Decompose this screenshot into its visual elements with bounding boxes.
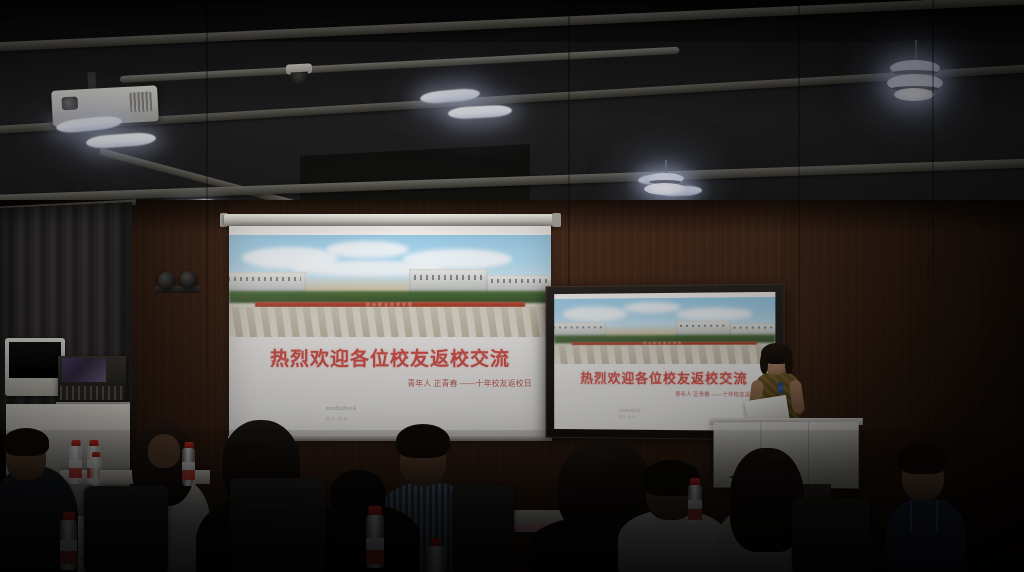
chair-center-left	[230, 478, 326, 572]
av-control-monitor[interactable]	[5, 338, 65, 396]
eyeglasses-icon	[766, 359, 787, 366]
cloud-2	[326, 241, 410, 258]
mixer-fader-strip[interactable]	[60, 386, 124, 400]
slide-campus-photo: 杭州职业技术学院	[229, 235, 551, 338]
ceiling-service-rail	[120, 47, 680, 83]
mixer-preview-screen	[62, 358, 106, 382]
tv-plaza-haze	[554, 345, 775, 364]
slide-date-secondary: 浙 江 · 杭 州	[326, 416, 348, 422]
attendee-standing-right-hair	[898, 444, 948, 474]
water-bottle-8	[688, 478, 702, 522]
bottle-label-5	[366, 538, 384, 564]
ceiling	[0, 0, 1024, 215]
attendee-white-shirt	[618, 466, 728, 572]
bottle-label-8	[688, 500, 702, 520]
pendant-saucer-skirt-1	[894, 88, 934, 101]
presenter	[752, 346, 802, 426]
bottle-cap-4	[63, 512, 75, 520]
bottle-label-4	[60, 540, 77, 564]
chair-right	[792, 498, 870, 572]
attendee-center-checkered-hair	[396, 424, 450, 458]
tv-cloud-2	[623, 302, 680, 314]
tv-slide-date: 2016年9月24日	[619, 408, 641, 413]
microphone-icon	[778, 382, 783, 394]
tv-slide-subtitle: 青年人 正青春 ——十年校友返校日	[675, 390, 762, 398]
bottle-body-9	[90, 457, 102, 486]
bottle-cap-5	[369, 506, 382, 515]
wall-speaker-right-icon	[180, 271, 197, 287]
attendee-left-woman-head	[148, 434, 180, 468]
av-monitor-screen	[9, 342, 61, 378]
slide-subtitle: 青年人 正青春 ——十年校友返校日	[407, 378, 531, 389]
eyeglasses-icon-attendee	[730, 476, 746, 485]
bottle-cap-8	[690, 478, 700, 485]
slide-title: 热烈欢迎各位校友返校交流	[229, 344, 551, 371]
projection-screen-housing[interactable]	[224, 214, 558, 226]
chair-center	[452, 486, 514, 572]
bottle-label-3	[182, 462, 195, 480]
pendant-rod-1	[915, 40, 917, 62]
water-bottle-3	[182, 442, 195, 486]
bottle-body-6	[428, 546, 444, 572]
attendee-standing-right	[886, 444, 966, 572]
screen-housing-cap-right	[552, 213, 561, 227]
tv-cloud-1	[563, 307, 628, 322]
water-bottle-9	[90, 452, 102, 486]
projector-lens-icon	[61, 96, 78, 110]
tv-campus-photo: 杭州职业技术学院	[554, 297, 775, 364]
tv-slide-date-secondary: 浙 江 · 杭 州	[619, 415, 635, 419]
tv-panel-screen[interactable]: 杭州职业技术学院 热烈欢迎各位校友返校交流 青年人 正青春 ——十年校友返校日 …	[554, 292, 775, 431]
chair-left	[84, 486, 168, 572]
slide-projected: 杭州职业技术学院 热烈欢迎各位校友返校交流 青年人 正青春 ——十年校友返校日 …	[229, 226, 551, 440]
tv-cloud-3	[676, 307, 752, 321]
tv-plaza-stripes	[554, 345, 775, 364]
water-bottle-5	[366, 506, 384, 568]
pendant-rod-2	[665, 160, 667, 174]
pendant-saucer-bottom-2	[644, 183, 686, 195]
projection-screen[interactable]: 杭州职业技术学院 热烈欢迎各位校友返校交流 青年人 正青春 ——十年校友返校日 …	[229, 226, 551, 440]
tube-2b	[448, 104, 513, 119]
projector-vent-icon	[129, 92, 152, 113]
water-bottle-4	[60, 512, 77, 570]
water-bottle-1	[69, 440, 82, 484]
wall-speaker-left-icon	[158, 272, 175, 288]
tv-slide-title: 热烈欢迎各位校友返校交流	[554, 368, 775, 388]
campus-plaza-stripes	[229, 307, 551, 337]
dome-security-camera-icon	[291, 72, 309, 86]
water-bottle-6	[428, 538, 444, 572]
slide-on-tv: 杭州职业技术学院 热烈欢迎各位校友返校交流 青年人 正青春 ——十年校友返校日 …	[554, 292, 775, 431]
conference-room-photo: 杭州职业技术学院 热烈欢迎各位校友返校交流 青年人 正青春 ——十年校友返校日 …	[0, 0, 1024, 572]
plaza-haze	[229, 307, 551, 337]
tube-1b	[86, 132, 157, 150]
lanyard-icon	[910, 500, 938, 534]
slide-date: 2016年9月24日	[326, 406, 357, 412]
attendee-left-front-hair	[3, 428, 49, 456]
bottle-cap-6	[431, 538, 442, 546]
bottle-label-1	[69, 460, 82, 478]
